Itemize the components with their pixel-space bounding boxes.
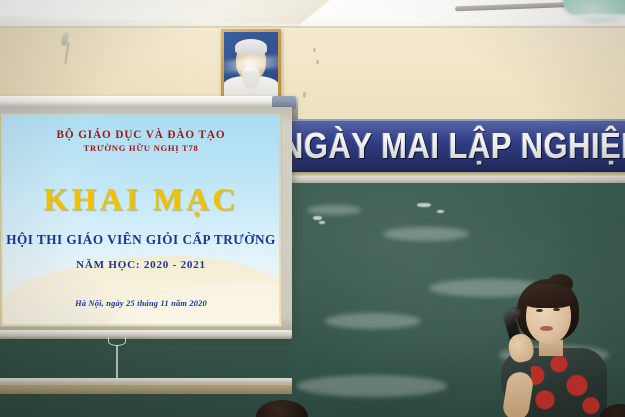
projected-slide: BỘ GIÁO DỤC VÀ ĐÀO TẠO TRƯỜNG HỮU NGHỊ T… [0,113,282,327]
portrait-hair [235,39,267,55]
portrait-frame [221,29,281,103]
wall-blemish [316,60,319,64]
chalk-smudge [325,313,421,329]
chalk-fleck [319,221,325,224]
chalk-smudge [297,375,447,397]
chalk-smudge [307,205,361,215]
slide-text-block: BỘ GIÁO DỤC VÀ ĐÀO TẠO TRƯỜNG HỮU NGHỊ T… [1,114,281,308]
chalkboard-ledge-wood [0,384,292,394]
chalk-smudge [383,227,469,241]
portrait-image [224,32,278,100]
slide-title: KHAI MẠC [1,183,281,215]
speaker-mouth [540,326,553,331]
projection-screen: BỘ GIÁO DỤC VÀ ĐÀO TẠO TRƯỜNG HỮU NGHỊ T… [0,107,292,335]
wall-blemish [303,92,306,98]
speaker-hair-fringe [521,284,575,308]
slide-school-name: TRƯỜNG HỮU NGHỊ T78 [1,143,281,153]
classroom-photo: NGÀY MAI LẬP NGHIỆP! BỘ GIÁO DỤC VÀ ĐÀO … [0,0,625,417]
speaker-with-microphone [487,276,625,417]
chalk-fleck [417,203,431,207]
wall-blemish [313,48,316,52]
wall-slogan-banner: NGÀY MAI LẬP NGHIỆP! [289,119,625,172]
screen-pull-cord[interactable] [116,345,118,381]
slide-organization: BỘ GIÁO DỤC VÀ ĐÀO TẠO [1,128,281,142]
chalk-fleck [437,210,444,213]
banner-text: NGÀY MAI LẬP NGHIỆP! [289,124,625,166]
slide-subtitle: HỘI THI GIÁO VIÊN GIỎI CẤP TRƯỜNG [1,232,281,248]
speaker-eye-right [553,308,560,311]
speaker-eye-left [536,309,543,312]
chalk-fleck [313,216,322,220]
slide-school-year: NĂM HỌC: 2020 - 2021 [1,259,281,271]
screen-bottom-weight-bar [0,330,292,339]
slide-date-line: Hà Nội, ngày 25 tháng 11 năm 2020 [1,299,281,308]
